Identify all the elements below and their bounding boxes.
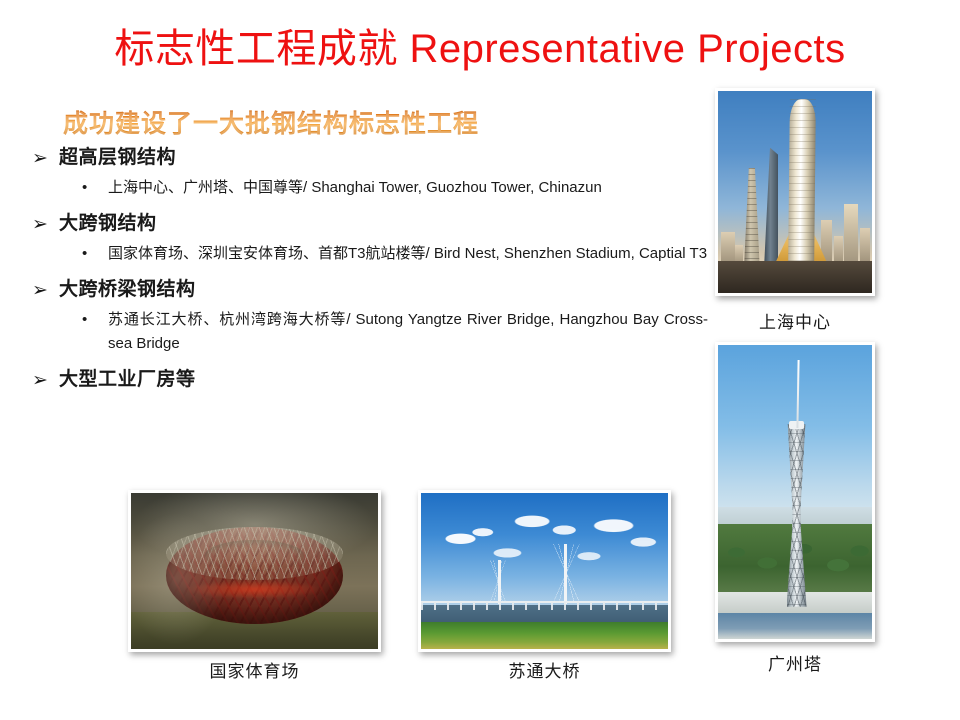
slide-subtitle: 成功建设了一大批钢结构标志性工程 [63,104,479,140]
caption-shanghai-tower: 上海中心 [715,308,875,333]
bridge-approach-piers [421,602,668,610]
bullet-level1: ➢ 超高层钢结构 [0,144,712,172]
arrow-bullet-icon: ➢ [32,144,59,172]
photo-canton-tower [715,342,875,642]
photo-shanghai-tower-artwork [718,91,872,293]
dot-bullet-icon: • [82,242,108,266]
photo-sutong-bridge [418,490,671,652]
caption-sutong-bridge: 苏通大桥 [418,657,671,682]
dot-bullet-icon: • [82,176,108,200]
photo-sutong-bridge-artwork [421,493,668,649]
bullet-level1: ➢ 大型工业厂房等 [0,366,712,394]
photo-shanghai-tower [715,88,875,296]
bullet-level1-label: 超高层钢结构 [59,144,176,172]
bullet-level1-label: 大跨桥梁钢结构 [59,276,196,304]
photo-birds-nest-stadium [128,490,381,652]
page-title: 标志性工程成就 Representative Projects [0,26,960,72]
bridge-pylon-right [564,544,567,603]
bullet-level1-label: 大跨钢结构 [59,210,157,238]
bullet-list: ➢ 超高层钢结构 • 上海中心、广州塔、中国尊等/ Shanghai Tower… [0,144,712,398]
dot-bullet-icon: • [82,308,108,332]
bullet-level2: • 国家体育场、深圳宝安体育场、首都T3航站楼等/ Bird Nest, She… [0,242,712,266]
caption-birds-nest-stadium: 国家体育场 [128,657,381,682]
photo-birds-nest-artwork [131,493,378,649]
bullet-level1-label: 大型工业厂房等 [59,366,196,394]
bullet-level2: • 上海中心、广州塔、中国尊等/ Shanghai Tower, Guozhou… [0,176,712,200]
arrow-bullet-icon: ➢ [32,210,59,238]
bullet-level2-label: 苏通长江大桥、杭州湾跨海大桥等/ Sutong Yangtze River Br… [108,308,712,356]
background-building [844,204,858,265]
slide-canvas: 标志性工程成就 Representative Projects 成功建设了一大批… [0,0,960,720]
bullet-level2-label: 上海中心、广州塔、中国尊等/ Shanghai Tower, Guozhou T… [108,176,712,200]
arrow-bullet-icon: ➢ [32,366,59,394]
grass-foreground [421,622,668,649]
bullet-level1: ➢ 大跨桥梁钢结构 [0,276,712,304]
photo-canton-tower-artwork [718,345,872,639]
background-building [860,228,871,264]
arrow-bullet-icon: ➢ [32,276,59,304]
river-water [718,613,872,639]
bridge-pylon-left [498,560,501,604]
bullet-level2: • 苏通长江大桥、杭州湾跨海大桥等/ Sutong Yangtze River … [0,308,712,356]
bullet-level2-label: 国家体育场、深圳宝安体育场、首都T3航站楼等/ Bird Nest, Shenz… [108,242,712,266]
caption-canton-tower: 广州塔 [715,650,875,675]
atmospheric-haze [131,493,378,649]
ground-plane [718,261,872,293]
bullet-level1: ➢ 大跨钢结构 [0,210,712,238]
shanghai-tower-shape [788,99,816,265]
